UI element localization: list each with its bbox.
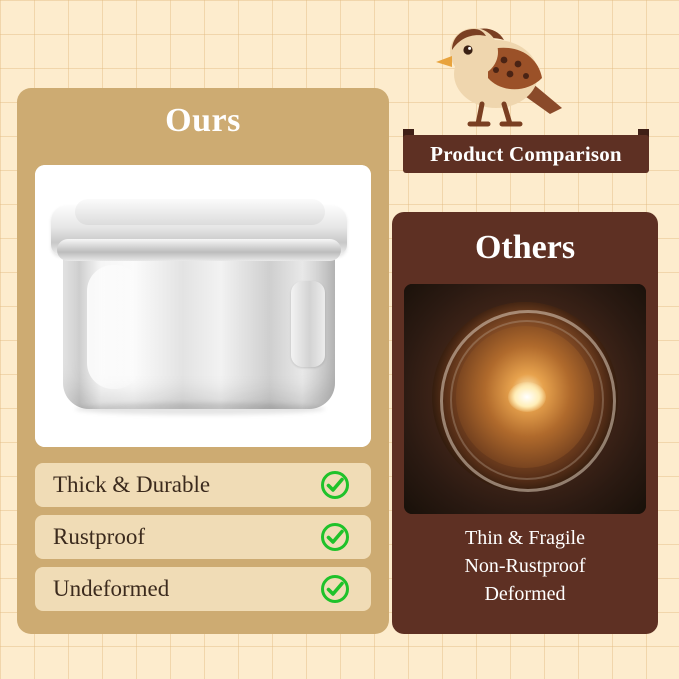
- others-panel: Others Thin & Fragile Non-Rustproof Defo…: [392, 212, 658, 634]
- feature-row: Undeformed: [35, 567, 371, 611]
- others-drawbacks: Thin & Fragile Non-Rustproof Deformed: [392, 524, 658, 608]
- pot-shadow: [75, 403, 325, 415]
- drawback-line: Non-Rustproof: [392, 552, 658, 580]
- pot-illustration: [35, 165, 371, 447]
- stainless-steel-pot-photo: [35, 165, 371, 447]
- check-icon: [321, 575, 349, 603]
- product-comparison-banner: Product Comparison: [403, 135, 649, 173]
- ours-panel: Ours Thick & Durable Rustproo: [17, 88, 389, 634]
- feature-label: Rustproof: [53, 524, 145, 550]
- rusted-pot-interior-photo: [404, 284, 646, 514]
- others-title: Others: [392, 229, 658, 267]
- ours-title: Ours: [17, 102, 389, 140]
- banner-title: Product Comparison: [430, 142, 622, 167]
- check-icon: [321, 471, 349, 499]
- product-comparison-infographic: Product Comparison Ours Thick & Durable: [0, 0, 679, 679]
- feature-label: Thick & Durable: [53, 472, 210, 498]
- rust-highlight: [508, 382, 546, 412]
- pot-handle: [291, 281, 325, 367]
- pot-lid-top: [75, 199, 325, 225]
- pot-lid-rim: [57, 239, 341, 261]
- check-icon: [321, 523, 349, 551]
- feature-label: Undeformed: [53, 576, 169, 602]
- drawback-line: Deformed: [392, 580, 658, 608]
- feature-row: Rustproof: [35, 515, 371, 559]
- drawback-line: Thin & Fragile: [392, 524, 658, 552]
- pot-highlight: [87, 265, 141, 389]
- feature-row: Thick & Durable: [35, 463, 371, 507]
- bird-icon: [430, 12, 570, 130]
